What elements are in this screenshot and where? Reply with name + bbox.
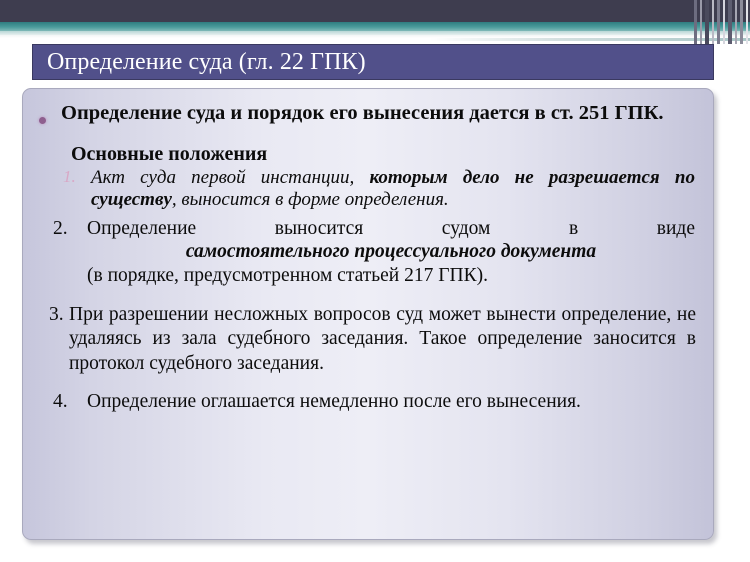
item2-line-3: (в порядке, предусмотренном статьей 217 …	[87, 264, 695, 287]
bullet-dot-icon	[39, 101, 61, 129]
lead-bullet-text: Определение суда и порядок его вынесения…	[61, 101, 699, 126]
list-item-text: Определение выносится судом в виде самос…	[87, 217, 699, 287]
corner-stripe-7	[728, 0, 732, 44]
list-item: 1. Акт суда первой инстанции, которым де…	[39, 167, 699, 211]
list-item-number: 3.	[49, 303, 69, 327]
list-item-text: Определение оглашается немедленно после …	[87, 390, 699, 413]
slide-content-panel: Определение суда и порядок его вынесения…	[22, 88, 714, 540]
list-item-text: Акт суда первой инстанции, которым дело …	[91, 167, 699, 211]
band-teal-stripe	[0, 22, 750, 31]
corner-stripe-1	[694, 0, 697, 44]
list-item-text: При разрешении несложных вопросов суд мо…	[69, 303, 699, 376]
corner-stripe-9	[740, 0, 743, 44]
list-item: 2. Определение выносится судом в виде са…	[39, 217, 699, 287]
corner-stripe-8	[735, 0, 737, 44]
item1-part-1: Акт суда первой инстанции,	[91, 167, 370, 188]
page-title: Определение суда (гл. 22 ГПК)	[33, 50, 366, 74]
item2-emphasis: самостоятельного процессуального докумен…	[87, 240, 695, 263]
list-item-number: 2.	[53, 217, 87, 240]
corner-stripe-2	[700, 0, 702, 44]
corner-stripe-5	[717, 0, 720, 44]
decorative-top-band	[0, 0, 750, 44]
list-item: 3. При разрешении несложных вопросов суд…	[39, 303, 699, 376]
corner-stripe-3	[705, 0, 709, 44]
item1-part-3: , выносится в форме определения.	[172, 189, 449, 210]
list-item-number: 1.	[63, 167, 91, 187]
corner-stripe-4	[712, 0, 714, 44]
list-item-number: 4.	[53, 390, 87, 413]
corner-stripe-10	[746, 0, 748, 44]
lead-bullet-row: Определение суда и порядок его вынесения…	[39, 101, 699, 129]
corner-stripes-decoration	[692, 0, 750, 44]
corner-stripe-6	[723, 0, 725, 44]
band-dark-stripe	[0, 0, 750, 22]
slide-title-bar: Определение суда (гл. 22 ГПК)	[32, 44, 714, 80]
section-heading: Основные положения	[71, 142, 699, 166]
list-item: 4. Определение оглашается немедленно пос…	[39, 390, 699, 413]
item2-line-1: Определение выносится судом в виде	[87, 217, 695, 240]
